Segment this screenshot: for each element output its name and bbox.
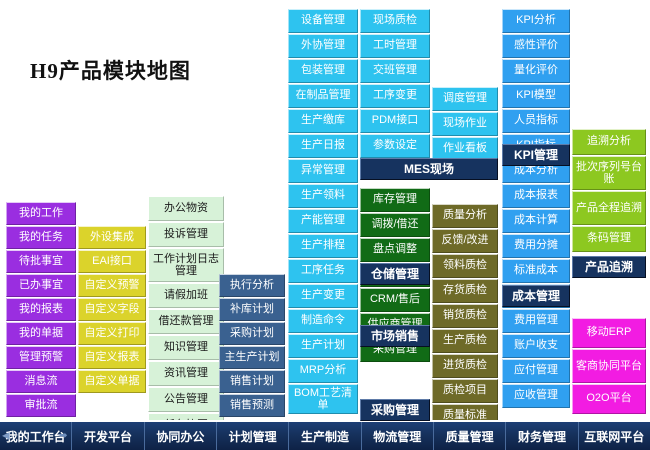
tab-label: 协同办公	[156, 428, 204, 445]
page-title: H9产品模块地图	[30, 55, 191, 85]
module-cell[interactable]: 外设集成	[78, 226, 146, 249]
module-cell[interactable]: 移动ERP	[572, 318, 646, 348]
module-cell[interactable]: 领料质检	[432, 254, 498, 278]
tab-my-workbench[interactable]: 我的工作台◀➡	[0, 422, 72, 450]
column-production-left: 设备管理外协管理包装管理在制品管理生产缴库生产日报异常管理生产领料产能管理生产排…	[288, 9, 358, 415]
module-cell[interactable]: 工时管理	[360, 34, 430, 58]
tab-prev-caret-icon[interactable]: ◀	[2, 431, 10, 442]
module-cell[interactable]: 生产计划	[288, 334, 358, 358]
module-cell[interactable]: 应收管理	[502, 384, 570, 408]
column-production-right: 现场质检工时管理交班管理工序变更PDM接口参数设定	[360, 9, 430, 159]
module-cell[interactable]: 标准成本	[502, 259, 570, 283]
tab-production[interactable]: 生产制造	[289, 422, 361, 450]
module-cell[interactable]: 采购计划	[219, 322, 285, 345]
tab-internet-platform[interactable]: 互联网平台	[579, 422, 650, 450]
module-cell[interactable]: 调拨/借还	[360, 213, 430, 237]
module-cell[interactable]: 销货质检	[432, 304, 498, 328]
tab-label: 质量管理	[446, 428, 494, 445]
module-cell[interactable]: 我的报表	[6, 298, 76, 321]
module-cell[interactable]: 现场作业	[432, 112, 498, 136]
module-cell[interactable]: 执行分析	[219, 274, 285, 297]
module-cell[interactable]: 审批流	[6, 394, 76, 417]
module-cell[interactable]: 账户收支	[502, 334, 570, 358]
module-cell[interactable]: 消息流	[6, 370, 76, 393]
module-cell[interactable]: 自定义预警	[78, 274, 146, 297]
module-cell[interactable]: 自定义单据	[78, 370, 146, 393]
module-cell[interactable]: 生产排程	[288, 234, 358, 258]
column-quality-management: 质量分析反馈/改进领料质检存货质检销货质检生产质检进货质检质检项目质量标准	[432, 204, 498, 429]
module-cell[interactable]: 自定义打印	[78, 322, 146, 345]
column-product-traceability: 追溯分析批次序列号台账产品全程追溯条码管理	[572, 129, 646, 253]
header-kpi[interactable]: KPI管理	[502, 144, 570, 166]
module-cell[interactable]: 生产缴库	[288, 109, 358, 133]
module-cell[interactable]: 现场质检	[360, 9, 430, 33]
module-cell[interactable]: 参数设定	[360, 134, 430, 158]
tab-next-arrow-icon[interactable]: ➡	[59, 431, 67, 442]
column-dev-platform: 外设集成EAI接口自定义预警自定义字段自定义打印自定义报表自定义单据	[78, 226, 146, 394]
module-cell[interactable]: PDM接口	[360, 109, 430, 133]
module-cell[interactable]: 主生产计划	[219, 346, 285, 369]
module-cell[interactable]: 生产变更	[288, 284, 358, 308]
tab-label: 计划管理	[229, 428, 277, 445]
tab-label: 开发平台	[84, 428, 132, 445]
column-mes-scheduling: 调度管理现场作业作业看板	[432, 87, 498, 162]
module-cell[interactable]: 待批事宜	[6, 250, 76, 273]
module-cell[interactable]: O2O平台	[572, 384, 646, 414]
module-cell[interactable]: MRP分析	[288, 359, 358, 383]
module-cell[interactable]: BOM工艺清单	[288, 384, 358, 414]
module-cell[interactable]: 生产质检	[432, 329, 498, 353]
module-cell[interactable]: 批次序列号台账	[572, 156, 646, 190]
tab-dev-platform[interactable]: 开发平台	[72, 422, 144, 450]
module-cell[interactable]: 追溯分析	[572, 129, 646, 155]
header-traceability[interactable]: 产品追溯	[572, 256, 646, 278]
tab-logistics[interactable]: 物流管理	[362, 422, 434, 450]
header-warehouse[interactable]: 仓储管理	[360, 263, 430, 285]
module-cell[interactable]: 在制品管理	[288, 84, 358, 108]
module-cell[interactable]: 客商协同平台	[572, 349, 646, 383]
module-cell[interactable]: 生产日报	[288, 134, 358, 158]
module-cell[interactable]: 知识管理	[148, 335, 224, 360]
module-cell[interactable]: KPI模型	[502, 84, 570, 108]
module-cell[interactable]: 人员指标	[502, 109, 570, 133]
module-cell[interactable]: 我的工作	[6, 202, 76, 225]
module-cell[interactable]: 自定义报表	[78, 346, 146, 369]
tab-label: 生产制造	[301, 428, 349, 445]
module-cell[interactable]: 公告管理	[148, 387, 224, 412]
module-cell[interactable]: 借还款管理	[148, 309, 224, 334]
header-market-sales[interactable]: 市场销售	[360, 325, 430, 347]
header-purchasing[interactable]: 采购管理	[360, 399, 430, 421]
module-cell[interactable]: 应付管理	[502, 359, 570, 383]
module-cell[interactable]: 产能管理	[288, 209, 358, 233]
module-cell[interactable]: 异常管理	[288, 159, 358, 183]
module-cell[interactable]: 进货质检	[432, 354, 498, 378]
column-finance-kpi: KPI分析感性评价量化评价KPI模型人员指标KPI指标成本分析成本报表成本计算费…	[502, 9, 570, 409]
module-cell[interactable]: 反馈/改进	[432, 229, 498, 253]
header-cost[interactable]: 成本管理	[502, 285, 570, 307]
module-cell[interactable]: 质量分析	[432, 204, 498, 228]
module-cell[interactable]: 量化评价	[502, 59, 570, 83]
module-cell[interactable]: 调度管理	[432, 87, 498, 111]
module-cell[interactable]: 库存管理	[360, 188, 430, 212]
module-cell[interactable]: 成本计算	[502, 209, 570, 233]
module-cell[interactable]: 感性评价	[502, 34, 570, 58]
module-cell[interactable]: 我的单据	[6, 322, 76, 345]
module-cell[interactable]: 销售计划	[219, 370, 285, 393]
module-cell[interactable]: 投诉管理	[148, 222, 224, 247]
column-plan-management: 执行分析补库计划采购计划主生产计划销售计划销售预测	[219, 274, 285, 418]
column-collaborative-office: 办公物资投诉管理工作计划日志管理请假加班借还款管理知识管理资讯管理公告管理任务协…	[148, 196, 224, 439]
module-cell[interactable]: 补库计划	[219, 298, 285, 321]
module-cell[interactable]: 请假加班	[148, 283, 224, 308]
module-cell[interactable]: 销售预测	[219, 394, 285, 417]
tab-finance[interactable]: 财务管理	[506, 422, 578, 450]
bottom-tab-bar[interactable]: 我的工作台◀➡开发平台协同办公计划管理生产制造物流管理质量管理财务管理互联网平台	[0, 420, 650, 450]
module-cell[interactable]: 交班管理	[360, 59, 430, 83]
module-cell[interactable]: 条码管理	[572, 226, 646, 252]
module-cell[interactable]: 费用管理	[502, 309, 570, 333]
module-cell[interactable]: 工序任务	[288, 259, 358, 283]
module-cell[interactable]: 包装管理	[288, 59, 358, 83]
module-cell[interactable]: 盘点调整	[360, 238, 430, 262]
module-cell[interactable]: 资讯管理	[148, 361, 224, 386]
tab-quality[interactable]: 质量管理	[434, 422, 506, 450]
tab-label: 互联网平台	[584, 428, 644, 445]
module-cell[interactable]: 成本报表	[502, 184, 570, 208]
module-cell[interactable]: 生产领料	[288, 184, 358, 208]
module-cell[interactable]: 存货质检	[432, 279, 498, 303]
header-mes[interactable]: MES现场	[360, 158, 498, 180]
module-map-canvas: H9产品模块地图 我的工作我的任务待批事宜已办事宜我的报表我的单据管理预警消息流…	[0, 0, 650, 450]
tab-label: 财务管理	[518, 428, 566, 445]
module-cell[interactable]: 费用分摊	[502, 234, 570, 258]
module-cell[interactable]: 我的任务	[6, 226, 76, 249]
tab-collaborative-office[interactable]: 协同办公	[145, 422, 217, 450]
module-cell[interactable]: KPI分析	[502, 9, 570, 33]
column-my-workbench: 我的工作我的任务待批事宜已办事宜我的报表我的单据管理预警消息流审批流	[6, 202, 76, 418]
module-cell[interactable]: 制造命令	[288, 309, 358, 333]
module-cell[interactable]: 自定义字段	[78, 298, 146, 321]
tab-label: 我的工作台	[6, 428, 66, 445]
module-cell[interactable]: 工作计划日志管理	[148, 248, 224, 282]
module-cell[interactable]: 外协管理	[288, 34, 358, 58]
tab-label: 物流管理	[373, 428, 421, 445]
tab-plan-management[interactable]: 计划管理	[217, 422, 289, 450]
module-cell[interactable]: 产品全程追溯	[572, 191, 646, 225]
module-cell[interactable]: 办公物资	[148, 196, 224, 221]
module-cell[interactable]: CRM/售后	[360, 288, 430, 312]
module-cell[interactable]: 已办事宜	[6, 274, 76, 297]
module-cell[interactable]: EAI接口	[78, 250, 146, 273]
module-cell[interactable]: 管理预警	[6, 346, 76, 369]
module-cell[interactable]: 工序变更	[360, 84, 430, 108]
module-cell[interactable]: 设备管理	[288, 9, 358, 33]
column-internet-platform: 移动ERP客商协同平台O2O平台	[572, 318, 646, 415]
module-cell[interactable]: 质检项目	[432, 379, 498, 403]
